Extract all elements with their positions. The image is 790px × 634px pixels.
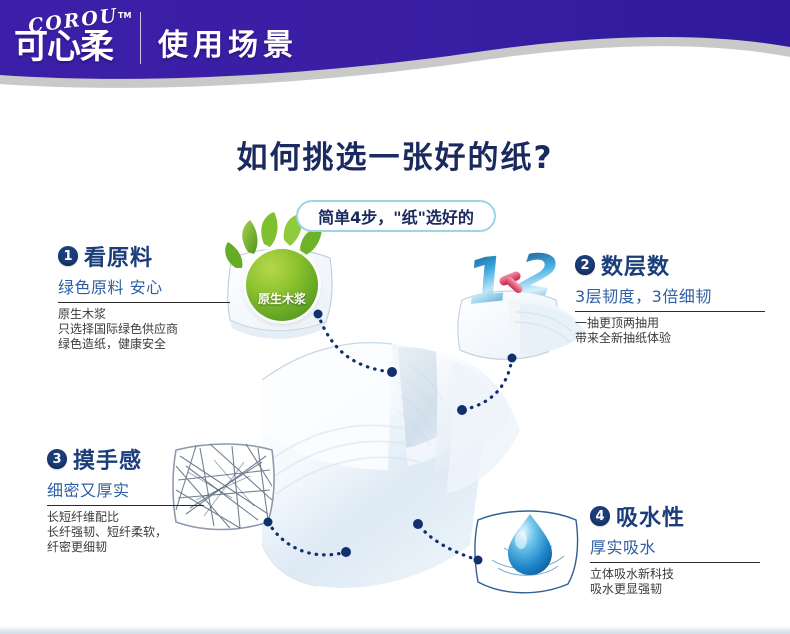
feature-1-title: 看原料	[84, 240, 153, 272]
feature-3-body: 长短纤维配比 长纤强韧、短纤柔软， 纤密更细韧	[47, 510, 217, 555]
feature-4-heading: 4 吸水性	[590, 500, 770, 532]
feature-3-title: 摸手感	[73, 443, 142, 475]
feature-4-body: 立体吸水新科技 吸水更显强韧	[590, 567, 770, 597]
feature-1-number-badge: 1	[58, 246, 78, 266]
subtitle-badge: 简单4步，"纸"选好的	[296, 200, 496, 232]
product-infographic-page: COROU TM 可心柔 使用场景 如何挑选一张好的纸? 简单4步，"纸"选好的	[0, 0, 790, 634]
digit-two-graphic: 2	[514, 246, 560, 307]
feature-3-divider	[47, 505, 204, 506]
feature-block-2: 2 数层数 3层韧度，3倍细韧 一抽更顶两抽用 带来全新抽纸体验	[575, 249, 775, 346]
feature-block-1: 1 看原料 绿色原料 安心 原生木浆 只选择国际绿色供应商 绿色造纸，健康安全	[58, 240, 246, 352]
feature-2-divider	[575, 311, 765, 312]
feature-1-subtitle: 绿色原料 安心	[58, 274, 246, 298]
feature-3-heading: 3 摸手感	[47, 443, 217, 475]
feature-2-body: 一抽更顶两抽用 带来全新抽纸体验	[575, 316, 775, 346]
feature-2-number-badge: 2	[575, 255, 595, 275]
feature-4-subtitle: 厚实吸水	[590, 534, 770, 558]
subtitle-badge-label: 简单4步，"纸"选好的	[318, 204, 474, 228]
droplet-highlight	[515, 531, 527, 549]
feature-4-title: 吸水性	[616, 500, 685, 532]
raw-material-badge: 原生木浆	[246, 249, 318, 321]
feature-2-subtitle: 3层韧度，3倍细韧	[575, 283, 775, 307]
feature-3-number-badge: 3	[47, 449, 67, 469]
feature-2-title: 数层数	[601, 249, 670, 281]
feature-3-subtitle: 细密又厚实	[47, 477, 217, 501]
feature-2-heading: 2 数层数	[575, 249, 775, 281]
feature-block-4: 4 吸水性 厚实吸水 立体吸水新科技 吸水更显强韧	[590, 500, 770, 597]
feature-4-divider	[590, 562, 760, 563]
feature-4-number-badge: 4	[590, 506, 610, 526]
feature-1-divider	[58, 302, 230, 303]
feature-1-heading: 1 看原料	[58, 240, 246, 272]
raw-material-badge-label: 原生木浆	[258, 290, 306, 307]
feature-block-3: 3 摸手感 细密又厚实 长短纤维配比 长纤强韧、短纤柔软， 纤密更细韧	[47, 443, 217, 555]
feature-1-body: 原生木浆 只选择国际绿色供应商 绿色造纸，健康安全	[58, 307, 246, 352]
